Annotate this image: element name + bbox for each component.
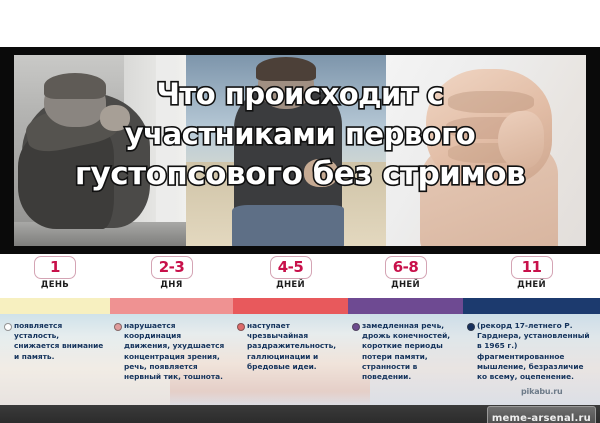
bullet-dot-5 (467, 323, 475, 331)
bar-segment-5 (463, 298, 600, 314)
pikabu-watermark: pikabu.ru (521, 387, 563, 396)
meme-image: Что происходит с участниками первого гус… (0, 0, 600, 423)
day-badge-1: 1 (34, 256, 76, 279)
symptom-text-5: (рекорд 17-летнего Р. Гарднера, установл… (477, 321, 596, 382)
severity-color-bar (0, 298, 600, 314)
sleep-deprivation-infographic: 1 ДЕНЬ 2-3 ДНЯ 4-5 ДНЕЙ 6-8 ДНЕЙ (0, 254, 600, 405)
day-badge-5: 11 (511, 256, 553, 279)
bullet-dot-1 (4, 323, 12, 331)
symptom-text-3: наступает чрезвычайная раздражительность… (247, 321, 344, 372)
bar-segment-4 (348, 298, 463, 314)
day-unit-5: ДНЕЙ (517, 280, 546, 290)
day-unit-2: ДНЯ (160, 280, 182, 290)
photo-man-on-beach (186, 55, 386, 246)
bar-segment-1 (0, 298, 110, 314)
day-header-5: 11 ДНЕЙ (463, 254, 600, 298)
day-header-3: 4-5 ДНЕЙ (233, 254, 348, 298)
bullet-dot-3 (237, 323, 245, 331)
bullet-dot-2 (114, 323, 122, 331)
day-header-1: 1 ДЕНЬ (0, 254, 110, 298)
day-badge-2-number: 2-3 (159, 260, 185, 275)
watermark-label: meme-arsenal.ru (492, 413, 591, 423)
photo-fist (386, 55, 586, 246)
day-badge-3-number: 4-5 (278, 260, 304, 275)
day-badge-4: 6-8 (385, 256, 427, 279)
photo-banner (0, 47, 600, 254)
day-badges-row: 1 ДЕНЬ 2-3 ДНЯ 4-5 ДНЕЙ 6-8 ДНЕЙ (0, 254, 600, 298)
bar-segment-2 (110, 298, 233, 314)
day-header-2: 2-3 ДНЯ (110, 254, 233, 298)
symptom-column-2: нарушается координация движения, ухудшае… (110, 314, 233, 405)
symptom-text-2: нарушается координация движения, ухудшае… (124, 321, 229, 382)
meme-arsenal-watermark: meme-arsenal.ru (487, 406, 596, 423)
day-unit-4: ДНЕЙ (391, 280, 420, 290)
bullet-dot-4 (352, 323, 360, 331)
symptom-column-4: замедленная речь, дрожь конечностей, кор… (348, 314, 463, 405)
day-badge-5-number: 11 (522, 260, 542, 275)
day-badge-1-number: 1 (50, 260, 60, 275)
day-unit-1: ДЕНЬ (41, 280, 69, 290)
day-unit-3: ДНЕЙ (276, 280, 305, 290)
photo-strip (14, 55, 586, 246)
day-header-4: 6-8 ДНЕЙ (348, 254, 463, 298)
day-badge-4-number: 6-8 (393, 260, 419, 275)
symptom-text-4: замедленная речь, дрожь конечностей, кор… (362, 321, 459, 382)
bar-segment-3 (233, 298, 348, 314)
symptom-column-1: появляется усталость, снижается внимание… (0, 314, 110, 405)
symptom-column-3: наступает чрезвычайная раздражительность… (233, 314, 348, 405)
photo-tired-man (14, 55, 186, 246)
symptom-columns: появляется усталость, снижается внимание… (0, 314, 600, 405)
day-badge-2: 2-3 (151, 256, 193, 279)
symptom-text-1: появляется усталость, снижается внимание… (14, 321, 106, 362)
day-badge-3: 4-5 (270, 256, 312, 279)
top-white-margin (0, 0, 600, 47)
